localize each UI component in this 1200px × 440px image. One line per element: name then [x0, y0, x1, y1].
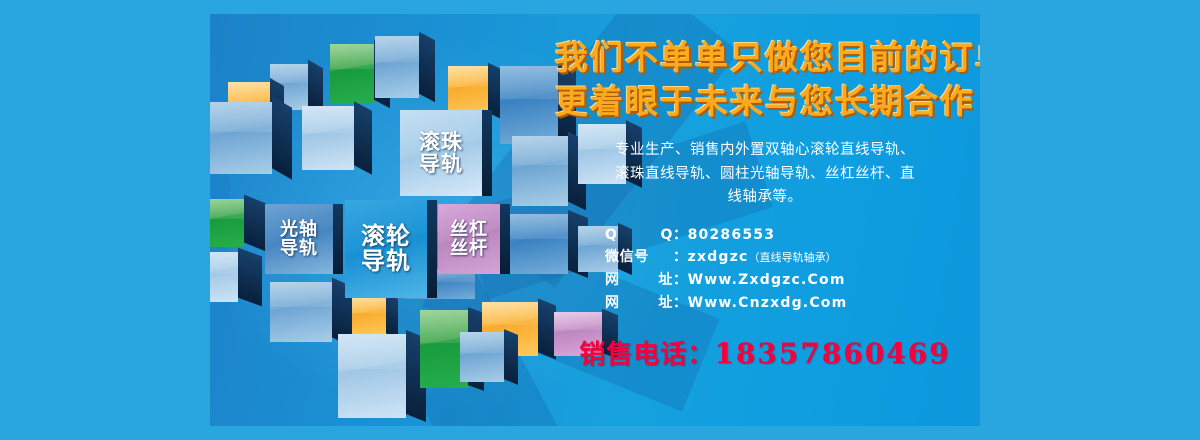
contact-value-qq[interactable]: 80286553 — [688, 224, 776, 247]
description-line-3: 线轴承等。 — [555, 186, 975, 209]
promo-banner: 滚珠 导轨 光轴 导轨 丝杠 丝杆 滚轮 导轨 我们不单单只做您目前的订单 更着… — [210, 14, 980, 426]
product-cube-guangzhou-daogui[interactable]: 光轴 导轨 — [265, 204, 333, 274]
contact-block: Q Q ： 80286553 微信号 ： zxdgzc （直线导轨轴承） 网 址 — [555, 224, 975, 315]
cube-extrusion — [427, 200, 437, 298]
cube-extrusion — [500, 204, 510, 274]
contact-label-website-1-a: 网 — [605, 269, 620, 292]
decor-cube — [270, 282, 332, 342]
sales-phone[interactable]: 销售电话：18357860469 — [555, 334, 975, 371]
decor-cube — [210, 102, 272, 174]
contact-note-wechat: （直线导轨轴承） — [748, 249, 836, 267]
contact-row-qq: Q Q ： 80286553 — [605, 224, 975, 247]
product-cube-gunzhu-daogui[interactable]: 滚珠 导轨 — [400, 110, 482, 196]
headline-line-1: 我们不单单只做您目前的订单 — [555, 36, 975, 80]
decor-cube — [448, 66, 488, 116]
decor-cube — [302, 106, 354, 170]
contact-label-website-1: 网 址 — [605, 269, 673, 292]
cube-extrusion — [333, 204, 343, 274]
decor-cube — [460, 332, 504, 382]
product-cube-label-line1: 丝杠 — [450, 220, 488, 239]
contact-row-website-1: 网 址 ： Www.Zxdgzc.Com — [605, 269, 975, 292]
sales-phone-label: 销售电话： — [579, 340, 714, 370]
product-cube-label-line1: 滚珠 — [419, 131, 463, 153]
product-cube-label-line2: 导轨 — [361, 249, 411, 274]
contact-value-website-2[interactable]: Www.Cnzxdg.Com — [688, 292, 848, 315]
contact-label-website-2-b: 址 — [658, 292, 673, 315]
contact-label-qq-b: Q — [660, 224, 673, 247]
decor-cube — [210, 199, 244, 247]
contact-separator: ： — [673, 224, 688, 247]
decor-cube — [352, 296, 386, 336]
description-line-2: 滚珠直线导轨、圆柱光轴导轨、丝杠丝杆、直 — [555, 163, 975, 186]
product-cube-label-line1: 滚轮 — [361, 224, 411, 249]
contact-value-wechat[interactable]: zxdgzc — [688, 246, 749, 269]
contact-label-wechat: 微信号 — [605, 246, 673, 269]
contact-separator: ： — [673, 269, 688, 292]
product-cube-label-line1: 光轴 — [280, 220, 318, 239]
contact-separator: ： — [673, 246, 688, 269]
product-cube-label-line2: 丝杆 — [450, 239, 488, 258]
product-cube-gunlun-daogui[interactable]: 滚轮 导轨 — [345, 200, 427, 298]
contact-label-wechat-a: 微信号 — [605, 246, 649, 269]
contact-label-website-2-a: 网 — [605, 292, 620, 315]
banner-copy-column: 我们不单单只做您目前的订单 更着眼于未来与您长期合作 专业生产、销售内外置双轴心… — [555, 36, 975, 371]
decor-cube — [210, 252, 238, 302]
contact-label-qq: Q Q — [605, 224, 673, 247]
contact-row-website-2: 网 址 ： Www.Cnzxdg.Com — [605, 292, 975, 315]
product-cube-label-line2: 导轨 — [280, 239, 318, 258]
contact-separator: ： — [673, 292, 688, 315]
headline: 我们不单单只做您目前的订单 更着眼于未来与您长期合作 — [555, 36, 975, 123]
product-cube-sigang-sigan[interactable]: 丝杠 丝杆 — [438, 204, 500, 274]
description-line-1: 专业生产、销售内外置双轴心滚轮直线导轨、 — [555, 139, 975, 162]
decor-cube — [500, 66, 558, 144]
contact-label-qq-a: Q — [605, 224, 618, 247]
product-cube-label-line2: 导轨 — [419, 153, 463, 175]
headline-line-2: 更着眼于未来与您长期合作 — [555, 80, 975, 124]
contact-row-wechat: 微信号 ： zxdgzc （直线导轨轴承） — [605, 246, 975, 269]
contact-label-website-2: 网 址 — [605, 292, 673, 315]
sales-phone-number[interactable]: 18357860469 — [714, 337, 950, 370]
contact-label-website-1-b: 址 — [658, 269, 673, 292]
decor-cube — [338, 334, 406, 418]
decor-cube — [330, 44, 374, 104]
decor-cube — [375, 36, 419, 98]
cube-extrusion — [482, 110, 492, 196]
description-block: 专业生产、销售内外置双轴心滚轮直线导轨、 滚珠直线导轨、圆柱光轴导轨、丝杠丝杆、… — [555, 139, 975, 209]
contact-value-website-1[interactable]: Www.Zxdgzc.Com — [688, 269, 846, 292]
